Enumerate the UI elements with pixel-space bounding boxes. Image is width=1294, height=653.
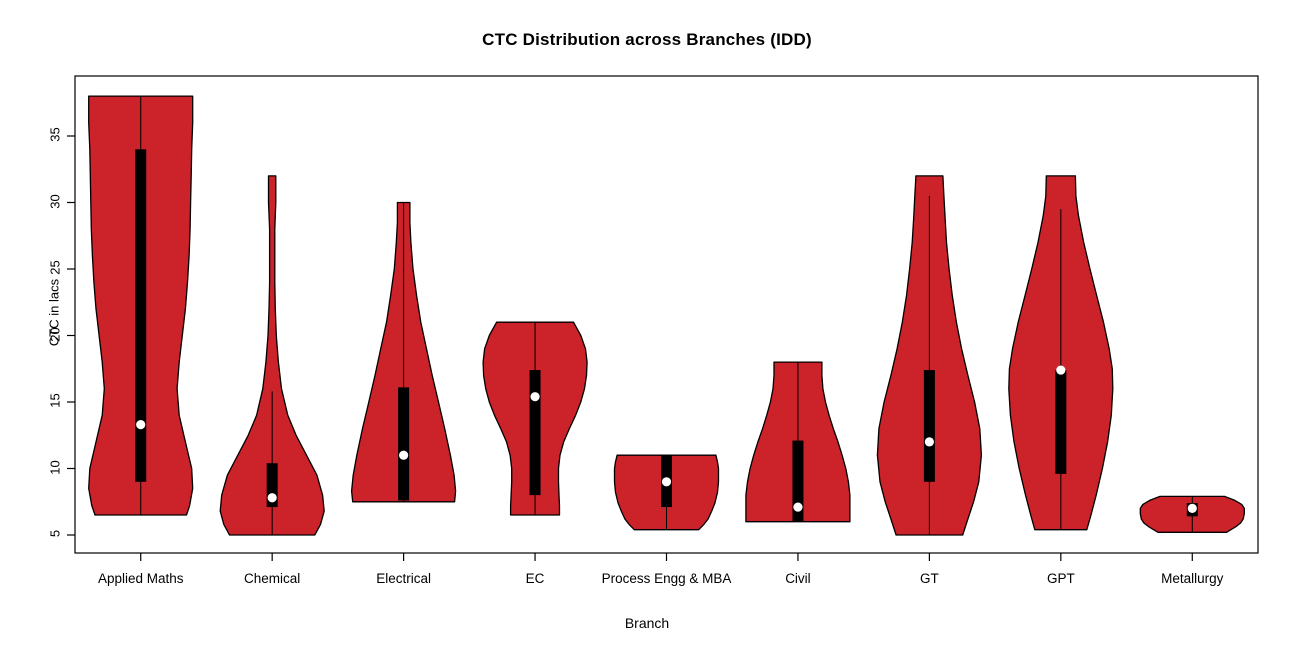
- median-marker: [399, 451, 408, 460]
- median-marker: [1056, 365, 1065, 374]
- violin-plot-figure: CTC Distribution across Branches (IDD) C…: [0, 0, 1294, 653]
- iqr-box: [135, 149, 146, 482]
- x-axis-category-label: Metallurgy: [1062, 571, 1294, 586]
- y-axis-tick-label: 25: [48, 253, 63, 283]
- median-marker: [1188, 504, 1197, 513]
- y-axis-tick-label: 20: [48, 319, 63, 349]
- median-marker: [925, 437, 934, 446]
- iqr-box: [924, 370, 935, 482]
- median-marker: [530, 392, 539, 401]
- iqr-box: [398, 387, 409, 500]
- y-axis-tick-label: 30: [48, 186, 63, 216]
- y-axis-tick-label: 15: [48, 386, 63, 416]
- median-marker: [136, 420, 145, 429]
- plot-canvas: [0, 0, 1294, 653]
- median-marker: [268, 493, 277, 502]
- y-axis-tick-label: 10: [48, 452, 63, 482]
- y-axis-tick-label: 5: [48, 519, 63, 549]
- y-axis-tick-label: 35: [48, 120, 63, 150]
- iqr-box: [530, 370, 541, 495]
- median-marker: [793, 502, 802, 511]
- iqr-box: [1055, 370, 1066, 474]
- median-marker: [662, 477, 671, 486]
